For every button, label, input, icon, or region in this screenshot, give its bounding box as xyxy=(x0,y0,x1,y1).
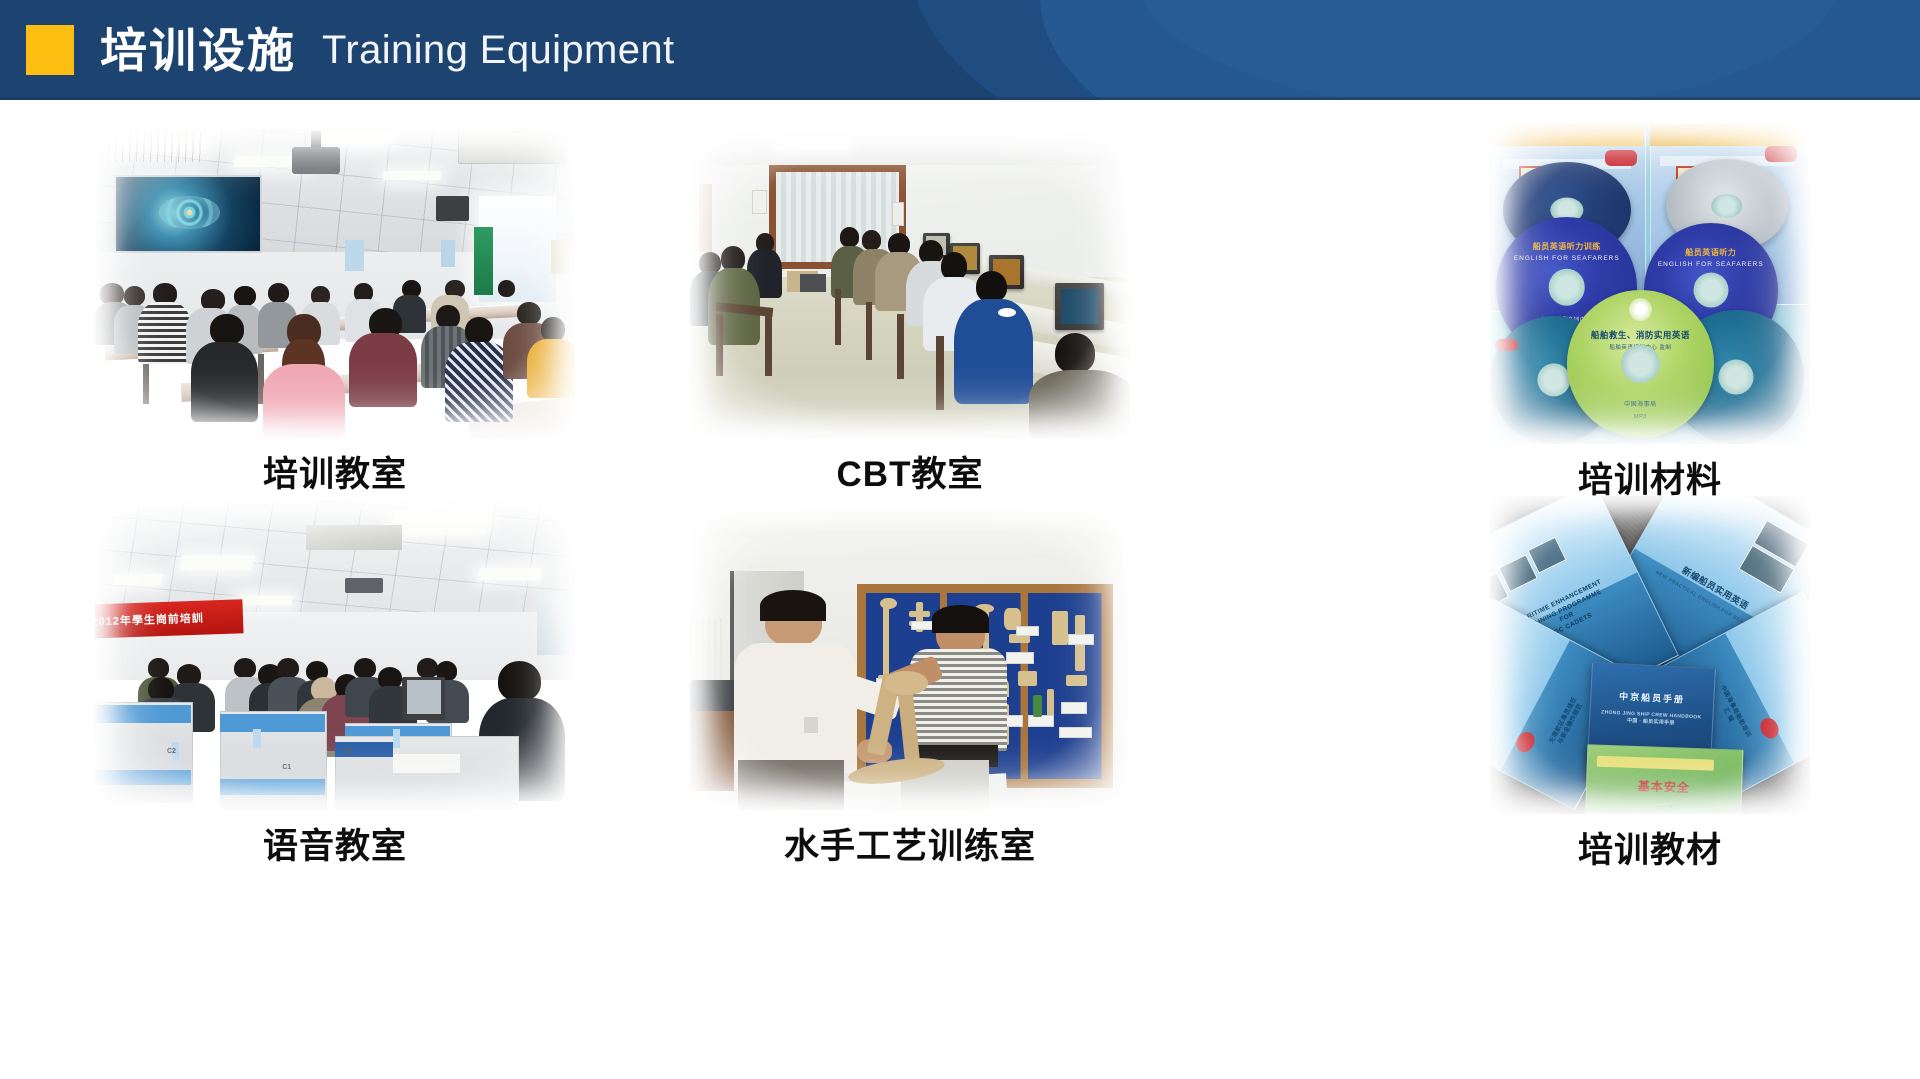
gallery-item-2[interactable]: CBT教室 xyxy=(690,128,1130,492)
slide-header: 培训设施 Training Equipment xyxy=(0,0,1920,100)
gallery-caption: 培训材料 xyxy=(1578,463,1722,498)
photo-content xyxy=(690,500,1130,810)
gallery-item-5[interactable]: 水手工艺训练室 xyxy=(690,500,1130,864)
photo-cbt-classroom xyxy=(690,128,1130,438)
gallery-caption: 培训教材 xyxy=(1578,833,1722,868)
photo-content: 船员英语听力训练 ENGLISH FOR SEAFARERS 船舶英语培训中心 … xyxy=(1490,124,1810,444)
gallery-grid: 培训教室 xyxy=(0,100,1920,1079)
gallery-caption: CBT教室 xyxy=(837,457,984,492)
photo-training-materials: 船员英语听力训练 ENGLISH FOR SEAFARERS 船舶英语培训中心 … xyxy=(1490,124,1810,444)
page-title-cn: 培训设施 xyxy=(100,27,296,74)
photo-content: 新编船员实用英语 NEW PRACTICAL ENGLISH FOR SEA C… xyxy=(1490,496,1810,814)
gallery-item-6[interactable]: 新编船员实用英语 NEW PRACTICAL ENGLISH FOR SEA C… xyxy=(1490,496,1810,868)
gallery-item-4[interactable]: 2012年學生崗前培訓 xyxy=(95,500,575,864)
gallery-item-1[interactable]: 培训教室 xyxy=(95,128,575,492)
header-ellipse-inner xyxy=(1140,0,1840,100)
gallery-caption: 培训教室 xyxy=(263,457,407,492)
photo-training-textbooks: 新编船员实用英语 NEW PRACTICAL ENGLISH FOR SEA C… xyxy=(1490,496,1810,814)
header-title-row: 培训设施 Training Equipment xyxy=(26,0,675,100)
photo-content xyxy=(95,128,575,438)
gallery-item-3[interactable]: 船员英语听力训练 ENGLISH FOR SEAFARERS 船舶英语培训中心 … xyxy=(1490,124,1810,498)
photo-seamanship-workshop xyxy=(690,500,1130,810)
photo-training-classroom xyxy=(95,128,575,438)
header-ellipse-outer xyxy=(910,0,1920,100)
gallery-caption: 水手工艺训练室 xyxy=(784,829,1036,864)
photo-language-lab: 2012年學生崗前培訓 xyxy=(95,500,575,810)
header-ellipse-mid xyxy=(1040,0,1920,100)
photo-content: 2012年學生崗前培訓 xyxy=(95,500,575,810)
page-title-en: Training Equipment xyxy=(322,30,675,70)
accent-square-icon xyxy=(26,25,74,75)
lab-banner-text: 2012年學生崗前培訓 xyxy=(95,610,204,630)
gallery-caption: 语音教室 xyxy=(263,829,407,864)
photo-content xyxy=(690,128,1130,438)
